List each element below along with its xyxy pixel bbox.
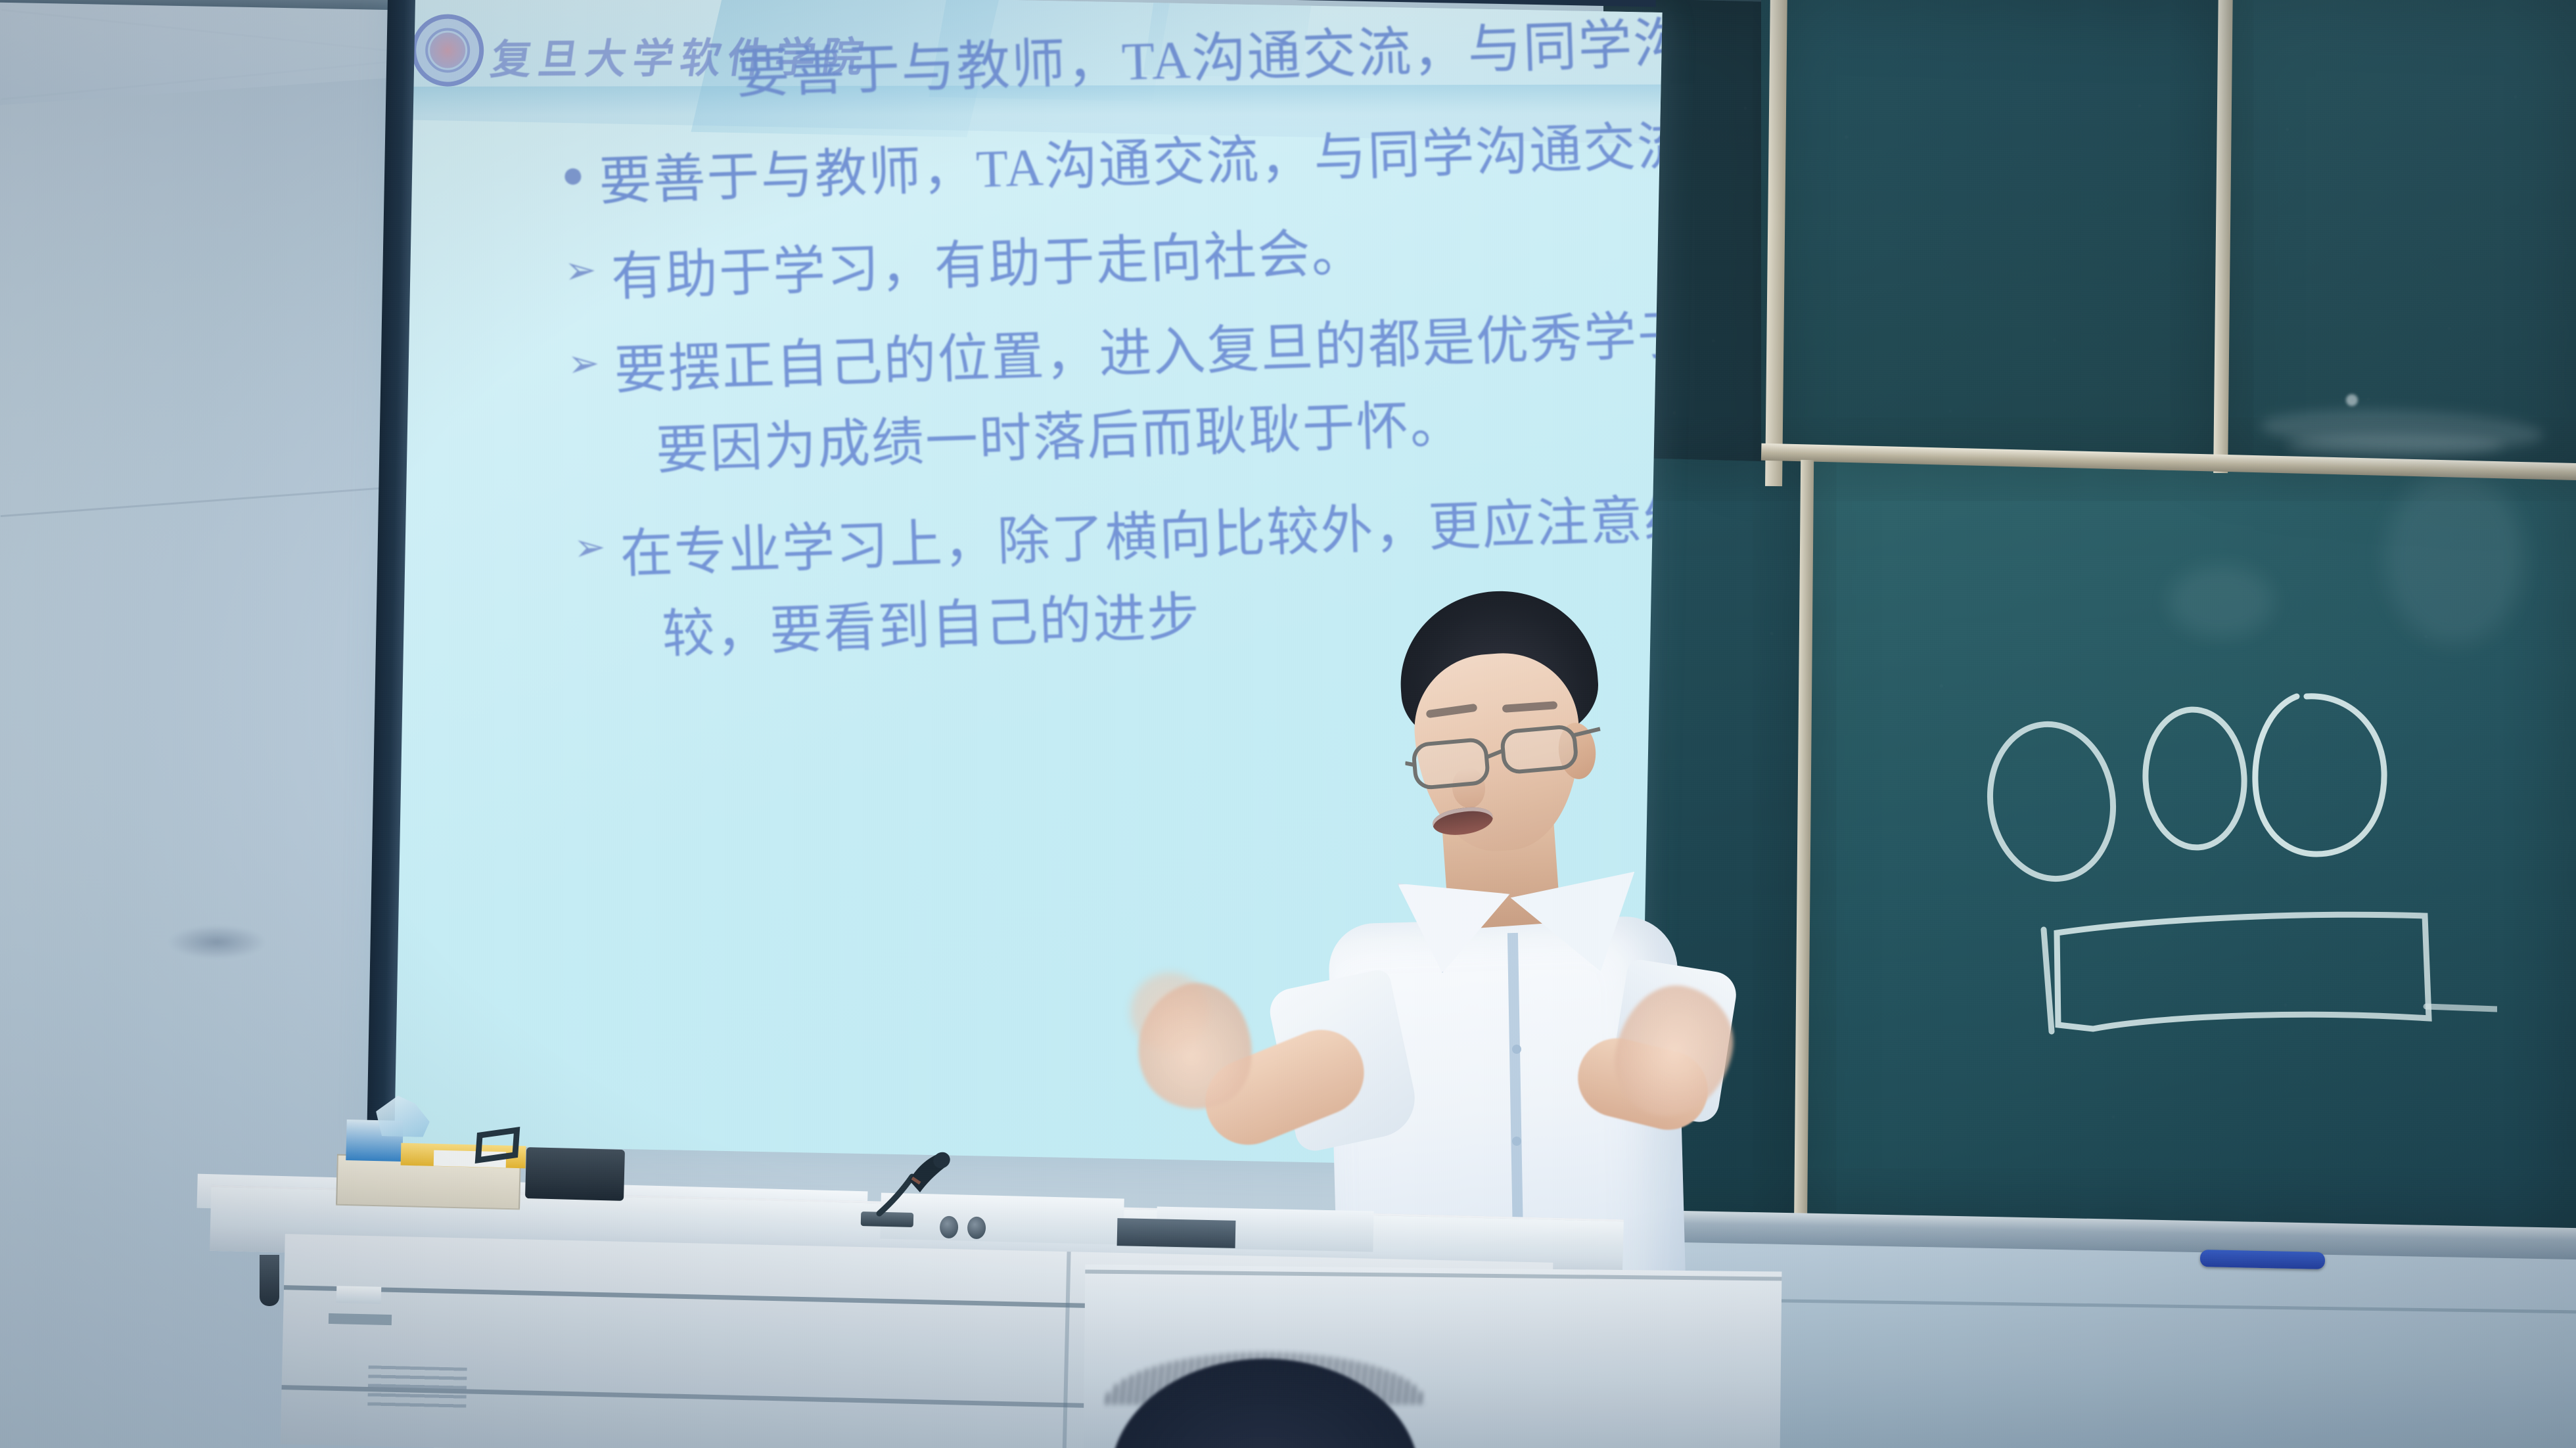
shirt-button: [1512, 1045, 1521, 1054]
shirt-button: [1512, 1137, 1521, 1146]
slide-bullet-0-text: 要善于与教师，TA沟通交流，与同学沟通交流。: [598, 117, 1662, 210]
blackboard-panel-upper-right: [2221, 0, 2576, 478]
chalk-circle-middle: [2142, 707, 2248, 850]
slide-body: 要善于与教师，TA沟通交流，与同学沟通交流。 ● 要善于与教师，TA沟通交流，与…: [393, 16, 1662, 671]
slide-bullet-2-text: 要摆正自己的位置，进入复旦的都是优秀学子，不: [613, 304, 1662, 399]
blue-marker[interactable]: [2200, 1250, 2326, 1269]
slide-bullet-3-text: 在专业学习上，除了横向比较外，更应注意纵向比: [620, 488, 1663, 583]
chalk-circle-left: [1980, 716, 2123, 887]
chalk-rectangle: [2057, 915, 2429, 1029]
bullet-arrow-icon: ➢: [573, 528, 607, 568]
podium-vent: [367, 1365, 467, 1408]
lecturer: [1117, 591, 1774, 1314]
chalk-rectangle-left-edge: [2044, 930, 2052, 1031]
slide-bullet-1: ➢ 有助于学习，有助于走向社会。: [564, 215, 1662, 307]
cable-hook: [260, 1255, 279, 1306]
board-texture: [1761, 0, 2234, 493]
gooseneck-mic-icon: [874, 1140, 953, 1219]
black-equipment-box: [525, 1147, 625, 1201]
lecture-hall-photo: 复旦大学软件学院 要善于与教师，TA沟通交流，与同学沟通交流。 ● 要善于与教师…: [0, 0, 2576, 1448]
podium-handle[interactable]: [329, 1313, 392, 1325]
control-knobs[interactable]: [940, 1216, 1019, 1244]
slide-bullet-1-text: 有助于学习，有助于走向社会。: [610, 225, 1366, 305]
av-console-screen[interactable]: [1117, 1218, 1236, 1248]
wall-seam: [1, 484, 433, 517]
knob[interactable]: [967, 1217, 986, 1240]
chalk-dot: [2346, 394, 2358, 406]
podium-latch[interactable]: [336, 1286, 382, 1304]
slide-bullet-2-continuation: 要因为成绩一时落后而耿耿于怀。: [655, 390, 1663, 479]
black-clip: [475, 1127, 520, 1164]
bullet-arrow-icon: ➢: [564, 251, 597, 290]
blackboard-panel-upper-middle: [1761, 0, 2234, 493]
slide-bullet-2-continuation-text: 要因为成绩一时落后而耿耿于怀。: [655, 397, 1465, 479]
chalk-rectangle-right-tail: [2426, 1007, 2497, 1009]
bullet-arrow-icon: ➢: [567, 344, 601, 384]
board-texture: [2221, 0, 2576, 478]
slide-bullet-2: ➢ 要摆正自己的位置，进入复旦的都是优秀学子，不: [567, 309, 1663, 401]
bullet-dot-icon: ●: [561, 156, 585, 194]
podium-seam: [1062, 1252, 1070, 1448]
wall-scuff-mark: [168, 925, 266, 959]
podium-edge: [1085, 1269, 1782, 1280]
knob[interactable]: [940, 1216, 959, 1239]
three-circles-over-rectangle-chalk-sketch: [1939, 565, 2497, 1051]
chalk-smudge: [2287, 434, 2504, 457]
slide-bullet-3: ➢ 在专业学习上，除了横向比较外，更应注意纵向比: [573, 493, 1662, 585]
chalk-circle-right: [2255, 696, 2384, 854]
slide-bullet-0: ● 要善于与教师，TA沟通交流，与同学沟通交流。: [561, 120, 1662, 212]
